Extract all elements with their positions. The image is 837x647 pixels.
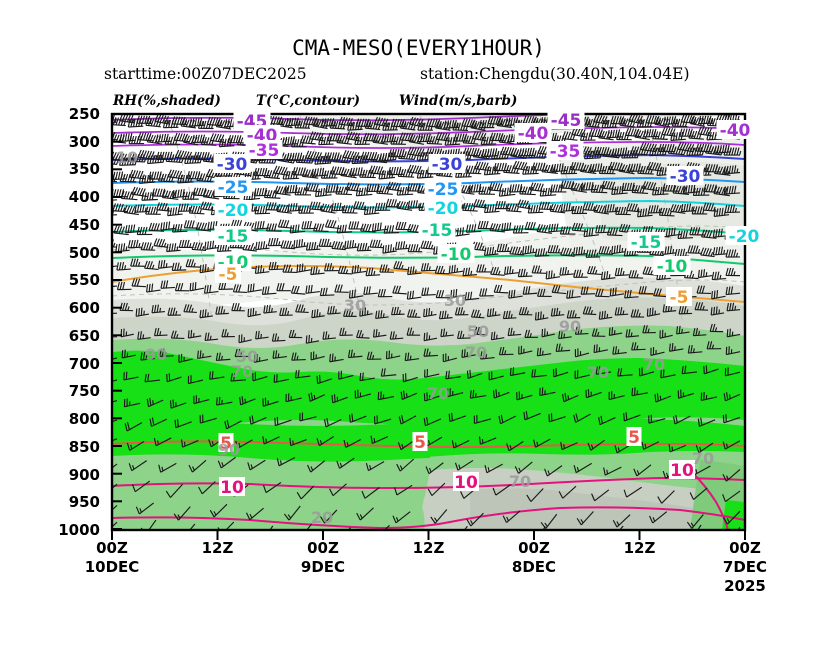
temperature-contour-label--35: -35 (249, 141, 280, 161)
rh-label-20: 20 (311, 508, 333, 527)
temperature-contour-label-10: 10 (670, 461, 694, 481)
x-axis-tick-date-0: 10DEC (57, 558, 167, 576)
temperature-contour-label--25: -25 (218, 178, 249, 198)
x-axis-tick-year-6: 2025 (690, 577, 800, 595)
x-axis-tick-time-6: 00Z (690, 539, 800, 557)
legend-wind: Wind(m/s,barb) (399, 93, 517, 109)
temperature-contour-label--30: -30 (217, 155, 248, 175)
temperature-contour-label--15: -15 (218, 227, 249, 247)
y-axis-tick-550: 550 (44, 271, 100, 289)
y-axis-tick-350: 350 (44, 160, 100, 178)
x-axis-tick-time-0: 00Z (57, 539, 167, 557)
y-axis-tick-400: 400 (44, 188, 100, 206)
legend-temperature: T(°C,contour) (256, 93, 360, 109)
temperature-contour-label--35: -35 (550, 142, 581, 162)
y-axis-tick-850: 850 (44, 438, 100, 456)
y-axis-tick-500: 500 (44, 244, 100, 262)
x-axis-tick-date-2: 9DEC (268, 558, 378, 576)
x-axis-tick-time-1: 12Z (163, 539, 273, 557)
temperature-contour-label-10: 10 (220, 478, 244, 498)
x-axis-tick-time-4: 00Z (479, 539, 589, 557)
y-axis-tick-950: 950 (44, 493, 100, 511)
y-axis-tick-800: 800 (44, 410, 100, 428)
temperature-contour-label--20: -20 (428, 199, 459, 219)
temperature-contour-label--40: -40 (720, 121, 751, 141)
y-axis-tick-900: 900 (44, 466, 100, 484)
temperature-contour-label--10: -10 (441, 245, 472, 265)
rh-label-90: 90 (559, 317, 581, 336)
temperature-contour-label--20: -20 (218, 201, 249, 221)
y-axis-tick-600: 600 (44, 299, 100, 317)
x-axis-tick-time-2: 00Z (268, 539, 378, 557)
y-axis-tick-750: 750 (44, 382, 100, 400)
y-axis-tick-300: 300 (44, 133, 100, 151)
y-axis-tick-250: 250 (44, 105, 100, 123)
chart-canvas: CMA-MESO(EVERY1HOUR) starttime:00Z07DEC2… (0, 0, 837, 647)
rh-label-90: 90 (218, 440, 240, 459)
temperature-contour-label--30: -30 (432, 155, 463, 175)
y-axis-tick-700: 700 (44, 355, 100, 373)
y-axis-tick-650: 650 (44, 327, 100, 345)
rh-label-90: 90 (145, 345, 167, 364)
starttime-label: starttime:00Z07DEC2025 (104, 65, 307, 83)
temperature-contour-label--20: -20 (729, 227, 760, 247)
rh-label-70: 70 (465, 343, 487, 362)
y-axis-tick-450: 450 (44, 216, 100, 234)
temperature-contour-label-5: 5 (414, 433, 426, 453)
y-axis-tick-1000: 1000 (44, 521, 100, 539)
temperature-contour-label--10: -10 (657, 257, 688, 277)
x-axis-tick-date-4: 8DEC (479, 558, 589, 576)
rh-label-10: 10 (116, 148, 138, 167)
temperature-contour-label--5: -5 (219, 265, 238, 285)
temperature-contour-label--45: -45 (551, 111, 582, 131)
rh-label-70: 70 (643, 355, 665, 374)
rh-label-70: 70 (692, 449, 714, 468)
x-axis-tick-time-3: 12Z (374, 539, 484, 557)
rh-label-30: 30 (344, 296, 366, 315)
temperature-contour-label-10: 10 (454, 473, 478, 493)
temperature-contour-label--15: -15 (631, 233, 662, 253)
temperature-contour-label--30: -30 (670, 167, 701, 187)
rh-label-70: 70 (427, 384, 449, 403)
rh-label-50: 50 (467, 322, 489, 341)
rh-label-70: 70 (587, 363, 609, 382)
temperature-contour-label--5: -5 (670, 288, 689, 308)
temperature-contour-label--40: -40 (518, 124, 549, 144)
station-label: station:Chengdu(30.40N,104.04E) (420, 65, 690, 83)
x-axis-tick-date-6: 7DEC (690, 558, 800, 576)
rh-label-70: 70 (509, 472, 531, 491)
temperature-contour-label--25: -25 (428, 180, 459, 200)
x-axis-tick-time-5: 12Z (585, 539, 695, 557)
rh-label-50: 50 (236, 347, 258, 366)
temperature-contour-label--15: -15 (422, 221, 453, 241)
temperature-contour-label-5: 5 (628, 428, 640, 448)
page-title: CMA-MESO(EVERY1HOUR) (0, 36, 837, 60)
rh-label-30: 30 (444, 291, 466, 310)
legend-rh: RH(%,shaded) (113, 93, 221, 109)
